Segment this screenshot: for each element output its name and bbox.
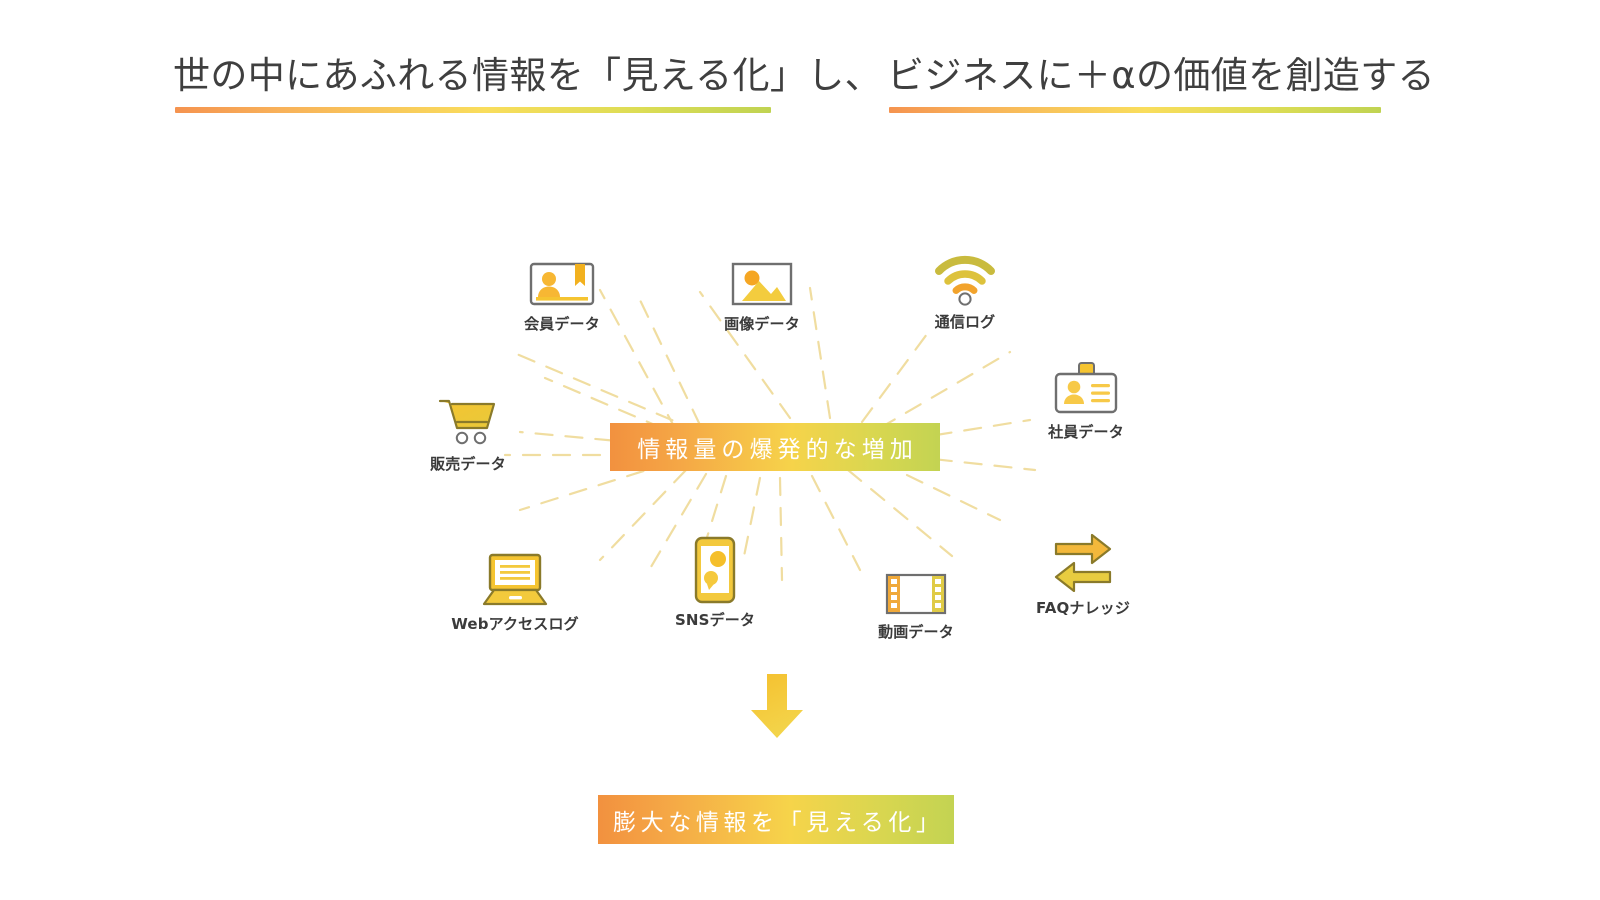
node-image-data-label: 画像データ — [698, 313, 826, 334]
headings-block: 世の中にあふれる情報を「見える化」し、 ビジネスに＋αの価値を創造する — [0, 22, 1600, 113]
node-video-data[interactable]: 動画データ — [856, 572, 976, 642]
wifi-icon — [934, 252, 996, 306]
node-faq-knowledge-label: FAQナレッジ — [1018, 597, 1148, 618]
laptop-icon — [476, 552, 554, 608]
shopping-cart-icon — [435, 388, 501, 448]
headline-secondary-text: ビジネスに＋αの価値を創造する — [887, 54, 1435, 97]
outcome-badge: 膨大な情報を「見える化」 — [598, 795, 954, 844]
node-member-data-label: 会員データ — [498, 313, 626, 334]
node-image-data[interactable]: 画像データ — [698, 260, 826, 334]
node-sns-data[interactable]: SNSデータ — [655, 536, 775, 630]
badge-icon — [1053, 362, 1119, 416]
node-comm-log-label: 通信ログ — [905, 311, 1025, 332]
down-arrow-icon — [748, 672, 806, 740]
infographic-canvas: 世の中にあふれる情報を「見える化」し、 ビジネスに＋αの価値を創造する — [0, 0, 1600, 900]
node-employee-data-label: 社員データ — [1026, 421, 1146, 442]
node-sales-data-label: 販売データ — [408, 453, 528, 474]
headline-primary-underline — [175, 107, 771, 113]
headline-secondary: ビジネスに＋αの価値を創造する — [887, 52, 1435, 113]
smartphone-icon — [693, 536, 737, 604]
node-web-access-log[interactable]: Webアクセスログ — [440, 552, 590, 634]
id-card-icon — [529, 260, 595, 308]
picture-icon — [731, 260, 793, 308]
headline-primary-text: 世の中にあふれる情報を「見える化」し、 — [173, 54, 882, 97]
headline-secondary-underline — [889, 107, 1381, 113]
node-sns-data-label: SNSデータ — [655, 609, 775, 630]
center-badge-label: 情報量の爆発的な増加 — [632, 430, 918, 464]
center-badge: 情報量の爆発的な増加 — [610, 423, 940, 471]
node-faq-knowledge[interactable]: FAQナレッジ — [1018, 530, 1148, 618]
exchange-arrows-icon — [1050, 530, 1116, 592]
film-strip-icon — [885, 572, 947, 616]
headline-primary: 世の中にあふれる情報を「見える化」し、 — [173, 52, 882, 113]
node-sales-data[interactable]: 販売データ — [408, 388, 528, 474]
outcome-badge-label: 膨大な情報を「見える化」 — [608, 803, 943, 837]
node-comm-log[interactable]: 通信ログ — [905, 252, 1025, 332]
node-member-data[interactable]: 会員データ — [498, 260, 626, 334]
node-web-access-log-label: Webアクセスログ — [440, 613, 590, 634]
node-employee-data[interactable]: 社員データ — [1026, 362, 1146, 442]
node-video-data-label: 動画データ — [856, 621, 976, 642]
